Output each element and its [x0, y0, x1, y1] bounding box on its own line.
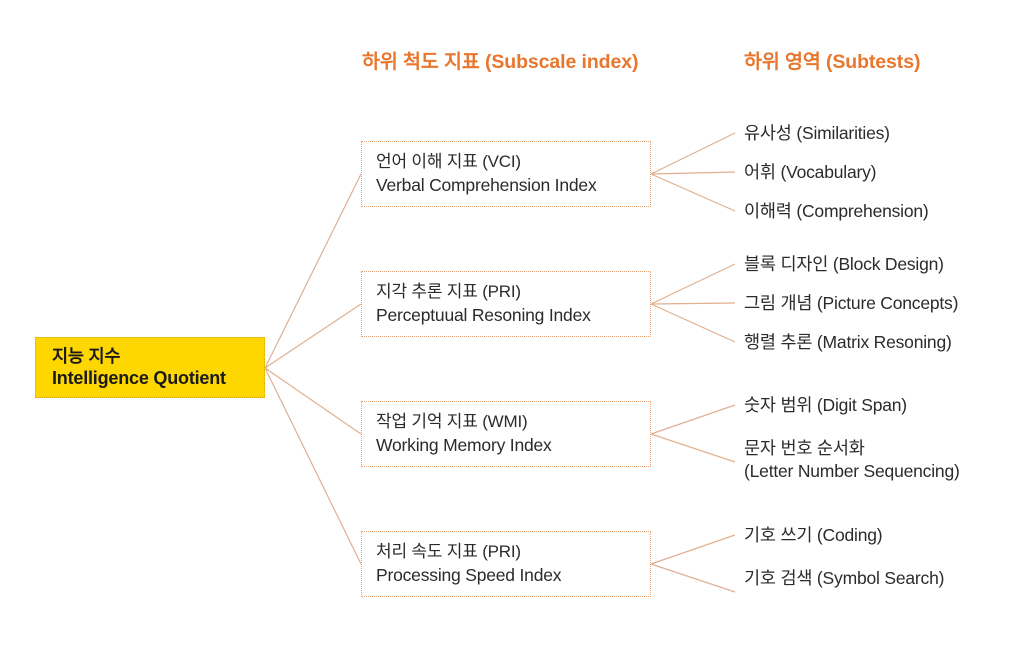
- connector-vci-to-subtest-2: [651, 174, 735, 211]
- subtest-label: 어휘 (Vocabulary): [744, 161, 876, 184]
- root-node-label-en: Intelligence Quotient: [52, 367, 264, 390]
- subtest-label: 숫자 범위 (Digit Span): [744, 394, 907, 417]
- subtest-label: 유사성 (Similarities): [744, 122, 890, 145]
- subscale-label-en: Perceptuual Resoning Index: [376, 304, 650, 327]
- subtest-label: 문자 번호 순서화 (Letter Number Sequencing): [744, 437, 960, 484]
- connector-wmi-to-subtest-0: [651, 405, 735, 434]
- subtest-label: 행렬 추론 (Matrix Resoning): [744, 331, 952, 354]
- connector-pri-to-subtest-2: [651, 304, 735, 342]
- connector-vci-to-subtest-0: [651, 133, 735, 174]
- subscale-label-en: Working Memory Index: [376, 434, 650, 457]
- connector-pri-to-subtest-1: [651, 303, 735, 304]
- connector-pri-to-subtest-0: [651, 264, 735, 304]
- subtest-label: 블록 디자인 (Block Design): [744, 253, 944, 276]
- subscale-box-pri: 지각 추론 지표 (PRI) Perceptuual Resoning Inde…: [361, 271, 651, 337]
- diagram-canvas: 하위 척도 지표 (Subscale index) 하위 영역 (Subtest…: [0, 0, 1024, 658]
- subscale-label-ko: 처리 속도 지표 (PRI): [376, 541, 650, 564]
- subscale-label-en: Verbal Comprehension Index: [376, 174, 650, 197]
- subtest-label-line1: 문자 번호 순서화: [744, 438, 865, 458]
- connector-root-to-pri: [265, 304, 361, 368]
- subtest-label: 기호 쓰기 (Coding): [744, 524, 882, 547]
- connector-psi-to-subtest-1: [651, 564, 735, 592]
- subscale-label-ko: 작업 기억 지표 (WMI): [376, 411, 650, 434]
- connector-vci-to-subtest-1: [651, 172, 735, 174]
- connector-psi-to-subtest-0: [651, 535, 735, 564]
- subscale-box-vci: 언어 이해 지표 (VCI) Verbal Comprehension Inde…: [361, 141, 651, 207]
- subtest-label: 이해력 (Comprehension): [744, 200, 929, 223]
- root-node-label-ko: 지능 지수: [52, 345, 264, 367]
- connector-root-to-psi: [265, 368, 361, 564]
- subscale-label-en: Processing Speed Index: [376, 564, 650, 587]
- column-header-subscale: 하위 척도 지표 (Subscale index): [362, 45, 638, 74]
- subscale-box-wmi: 작업 기억 지표 (WMI) Working Memory Index: [361, 401, 651, 467]
- connector-root-to-vci: [265, 174, 361, 368]
- connector-root-to-wmi: [265, 368, 361, 434]
- column-header-subtests: 하위 영역 (Subtests): [744, 45, 920, 74]
- subtest-label: 그림 개념 (Picture Concepts): [744, 292, 958, 315]
- subtest-label: 기호 검색 (Symbol Search): [744, 567, 944, 590]
- subscale-label-ko: 지각 추론 지표 (PRI): [376, 281, 650, 304]
- connector-wmi-to-subtest-1: [651, 434, 735, 462]
- subscale-box-psi: 처리 속도 지표 (PRI) Processing Speed Index: [361, 531, 651, 597]
- subscale-label-ko: 언어 이해 지표 (VCI): [376, 151, 650, 174]
- subtest-label-line2: (Letter Number Sequencing): [744, 460, 960, 483]
- root-node-intelligence-quotient: 지능 지수 Intelligence Quotient: [35, 337, 265, 398]
